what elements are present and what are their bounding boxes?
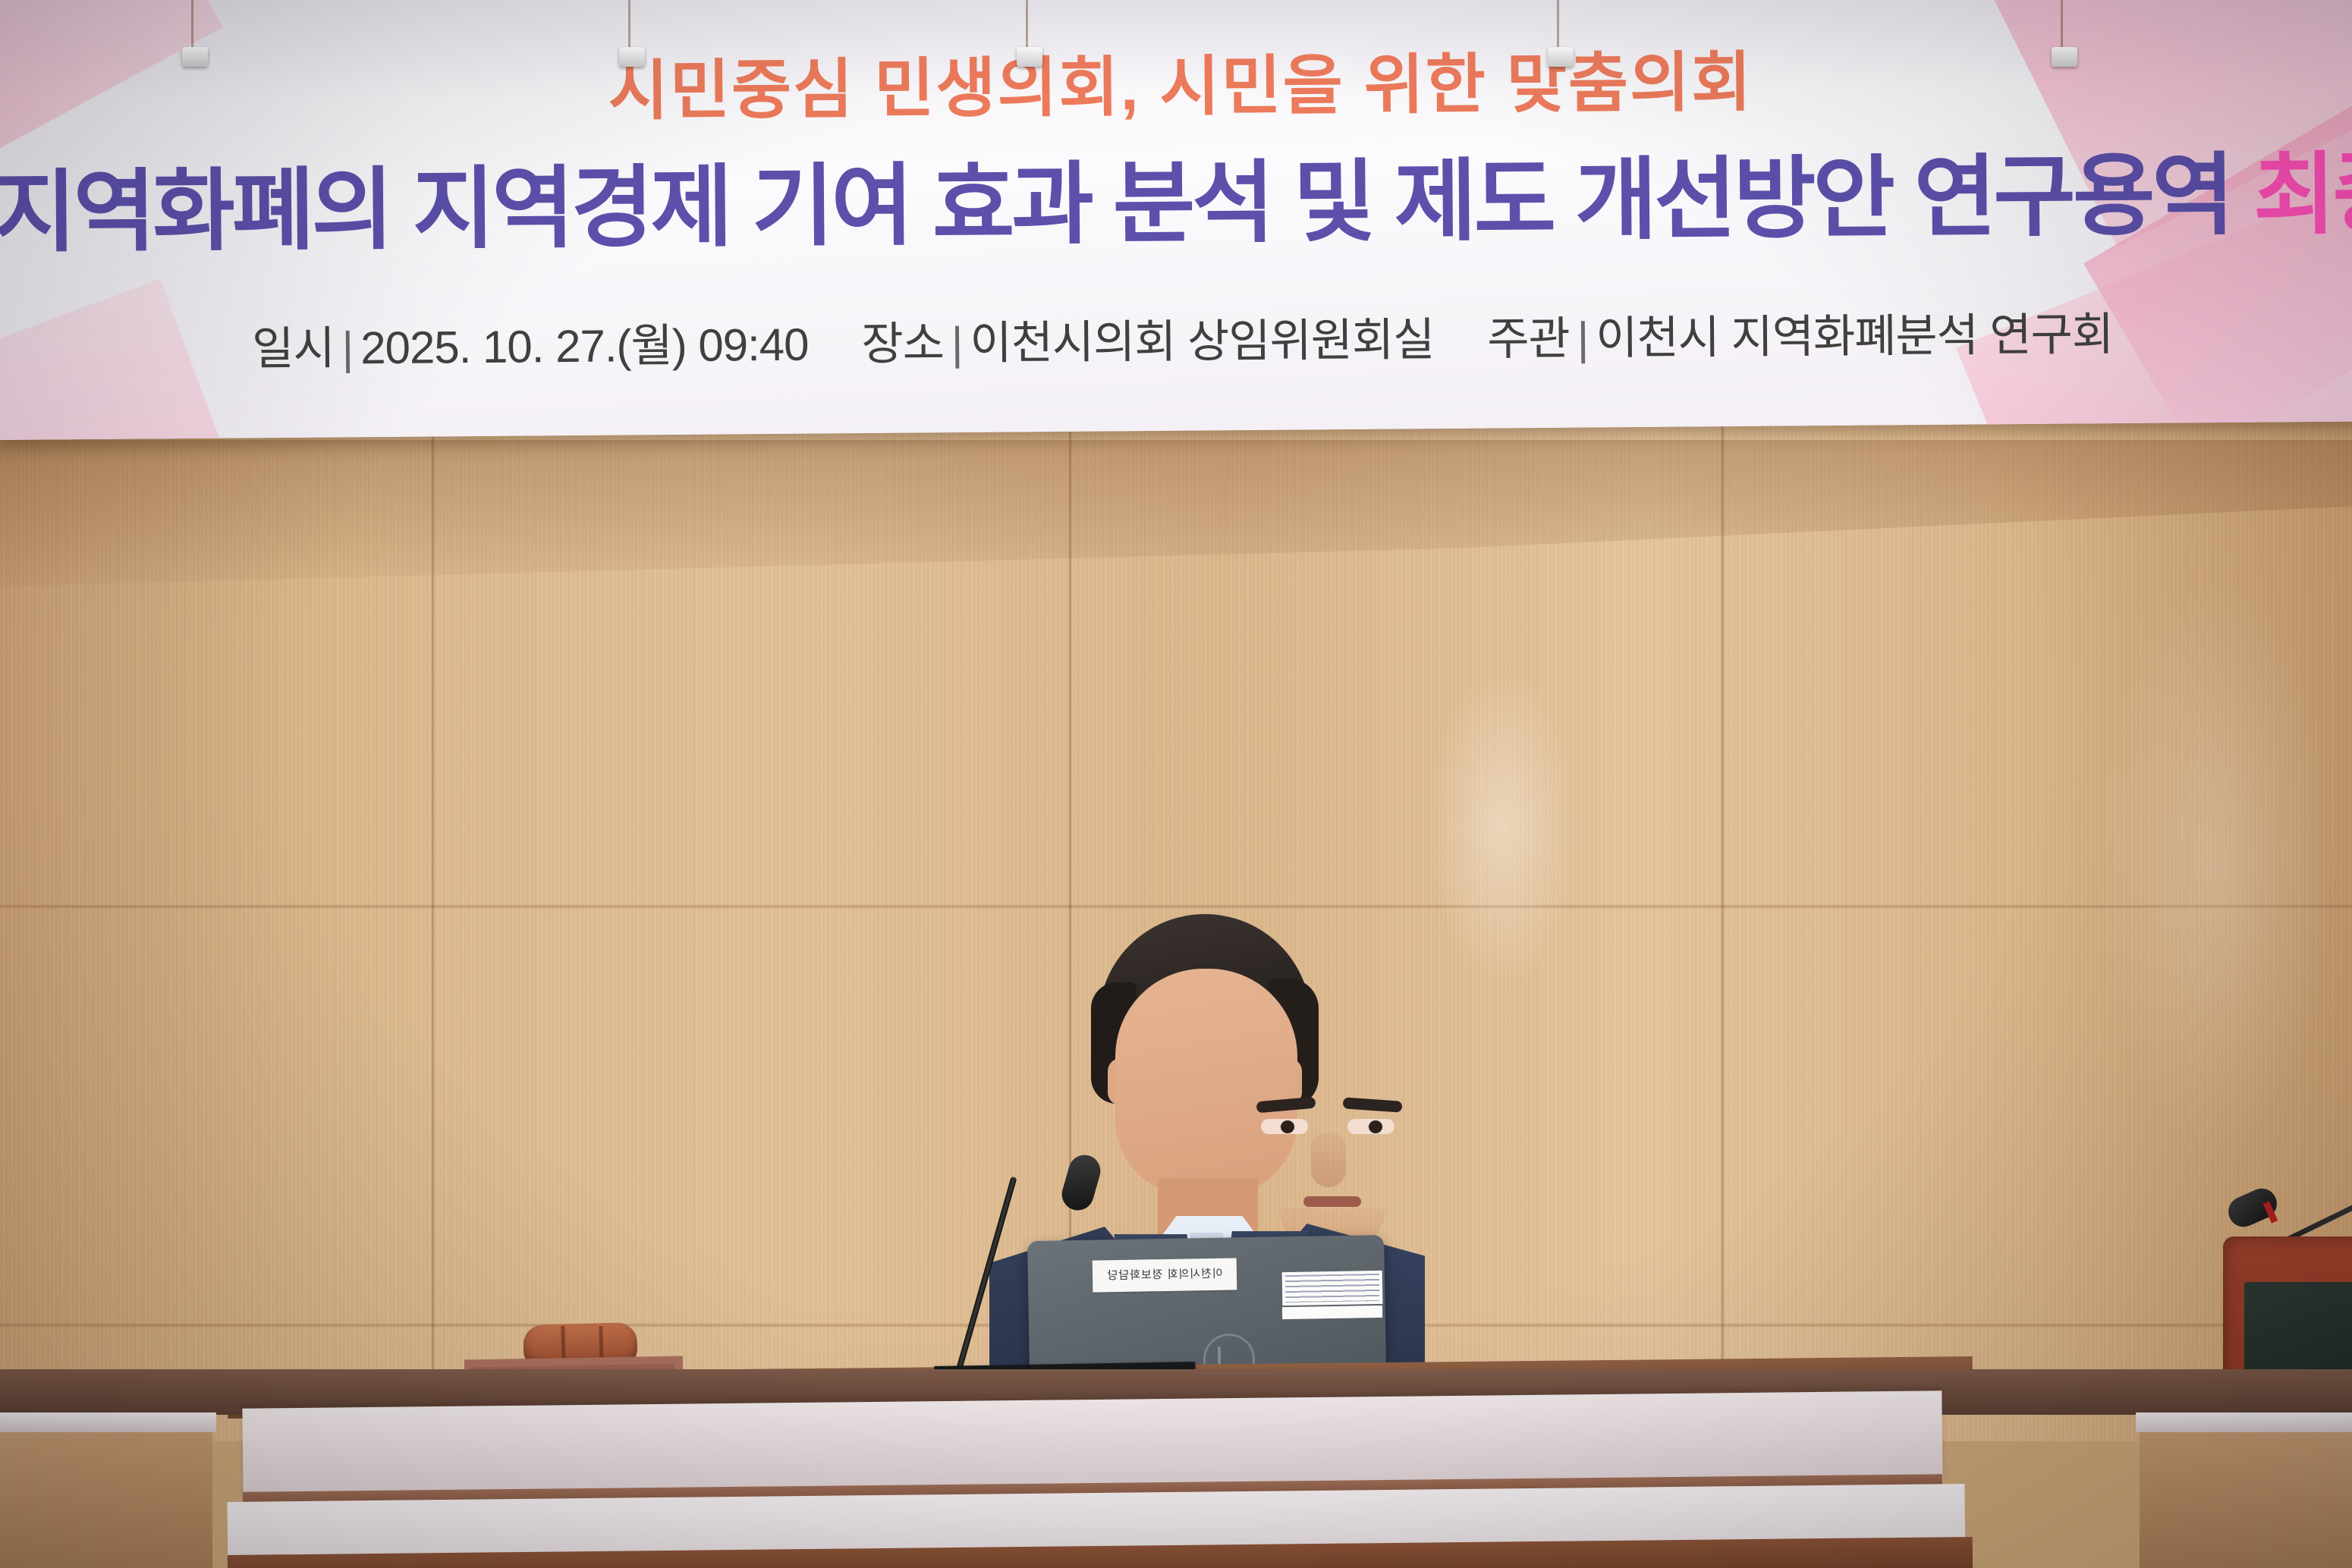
banner-string bbox=[191, 0, 193, 53]
laptop-spec-label-strip bbox=[1282, 1306, 1382, 1319]
laptop-spec-label bbox=[1282, 1271, 1383, 1306]
separator: | bbox=[1569, 313, 1596, 363]
banner-title-accent: 최종보고회 bbox=[2253, 143, 2352, 246]
eyebrow bbox=[1343, 1097, 1403, 1112]
side-panel-left bbox=[0, 1426, 212, 1568]
banner-string bbox=[1026, 0, 1028, 53]
eye bbox=[1347, 1119, 1395, 1134]
banner-string bbox=[1557, 0, 1559, 53]
banner-clip bbox=[1548, 47, 1574, 67]
photo-scene: 시민중심 민생의회, 시민을 위한 맞춤의회 지역화폐의 지역경제 기여 효과 … bbox=[0, 0, 2352, 1568]
banner-title-main: 지역화폐의 지역경제 기여 효과 분석 및 제도 개선방안 연구용역 bbox=[0, 146, 2253, 263]
banner-title: 지역화폐의 지역경제 기여 효과 분석 및 제도 개선방안 연구용역 최종보고회 bbox=[0, 121, 2352, 269]
date-value: 2025. 10. 27.(월) 09:40 bbox=[360, 319, 809, 374]
banner-string bbox=[628, 0, 630, 53]
separator: | bbox=[944, 318, 970, 369]
mouth bbox=[1303, 1196, 1361, 1207]
label-text-lines bbox=[1285, 1274, 1380, 1302]
date-label: 일시 bbox=[252, 322, 335, 374]
event-banner: 시민중심 민생의회, 시민을 위한 맞춤의회 지역화폐의 지역경제 기여 효과 … bbox=[0, 0, 2352, 440]
place-label: 장소 bbox=[861, 318, 944, 369]
wall-horizontal-band bbox=[0, 904, 2352, 909]
nose bbox=[1311, 1133, 1346, 1187]
host-label: 주관 bbox=[1487, 313, 1570, 365]
laptop-sticker-text: 이천시의회 정보화담당 bbox=[1093, 1258, 1237, 1292]
banner-clip bbox=[182, 47, 208, 67]
banner-slogan: 시민중심 민생의회, 시민을 위한 맞춤의회 bbox=[0, 24, 2352, 137]
banner-clip bbox=[2052, 47, 2077, 67]
side-panel-right bbox=[2140, 1426, 2352, 1568]
side-panel-top-right bbox=[2136, 1412, 2352, 1432]
eyebrow bbox=[1256, 1097, 1316, 1114]
banner-clip bbox=[1017, 47, 1042, 67]
eye bbox=[1261, 1119, 1308, 1134]
place-value: 이천시의회 상임위원회실 bbox=[970, 314, 1434, 369]
separator: | bbox=[334, 322, 360, 373]
side-panel-top-left bbox=[0, 1412, 216, 1432]
face bbox=[1115, 969, 1297, 1196]
laptop-asset-sticker: 이천시의회 정보화담당 bbox=[1093, 1258, 1237, 1292]
pupil bbox=[1281, 1120, 1294, 1133]
banner-clip bbox=[619, 47, 645, 67]
host-value: 이천시 지역화폐분석 연구회 bbox=[1596, 309, 2113, 363]
pupil bbox=[1369, 1120, 1382, 1133]
banner-string bbox=[2061, 0, 2063, 53]
